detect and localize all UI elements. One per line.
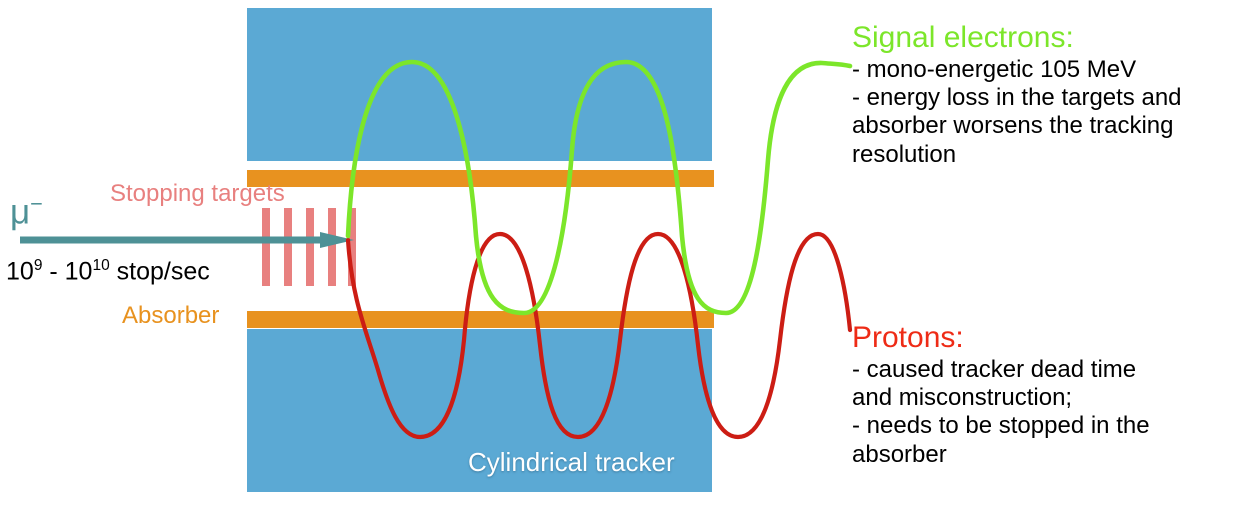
rate-exponent-high: 10 <box>92 257 109 274</box>
muon-stop-rate-label: 109 - 1010 stop/sec <box>6 258 210 284</box>
signal-electrons-body: - mono-energetic 105 MeV- energy loss in… <box>852 56 1252 169</box>
muon-symbol: μ <box>10 193 30 232</box>
signal-electrons-title: Signal electrons: <box>852 22 1252 54</box>
rate-prefix: 10 <box>6 257 34 285</box>
proton-helix <box>348 234 850 437</box>
note-line: - caused tracker dead time <box>852 356 1252 384</box>
note-line: absorber <box>852 441 1252 469</box>
cylindrical-tracker-label: Cylindrical tracker <box>468 449 675 475</box>
protons-body: - caused tracker dead timeand misconstru… <box>852 356 1252 469</box>
muon-beam-label: μ− <box>10 193 43 230</box>
rate-separator: - 10 <box>42 257 92 285</box>
signal-electron-helix <box>348 62 850 313</box>
note-line: absorber worsens the tracking <box>852 112 1252 140</box>
note-line: - mono-energetic 105 MeV <box>852 56 1252 84</box>
note-line: resolution <box>852 141 1252 169</box>
cycling-detector-diagram: μ− 109 - 1010 stop/sec Stopping targets … <box>0 0 1258 508</box>
absorber-label: Absorber <box>122 304 219 328</box>
muon-charge: − <box>30 191 43 216</box>
protons-annotation: Protons: - caused tracker dead timeand m… <box>852 322 1252 469</box>
rate-units: stop/sec <box>110 257 210 285</box>
note-line: - energy loss in the targets and <box>852 84 1252 112</box>
note-line: - needs to be stopped in the <box>852 412 1252 440</box>
stopping-targets-label: Stopping targets <box>110 182 285 206</box>
signal-electrons-annotation: Signal electrons: - mono-energetic 105 M… <box>852 22 1252 169</box>
note-line: and misconstruction; <box>852 384 1252 412</box>
protons-title: Protons: <box>852 322 1252 354</box>
